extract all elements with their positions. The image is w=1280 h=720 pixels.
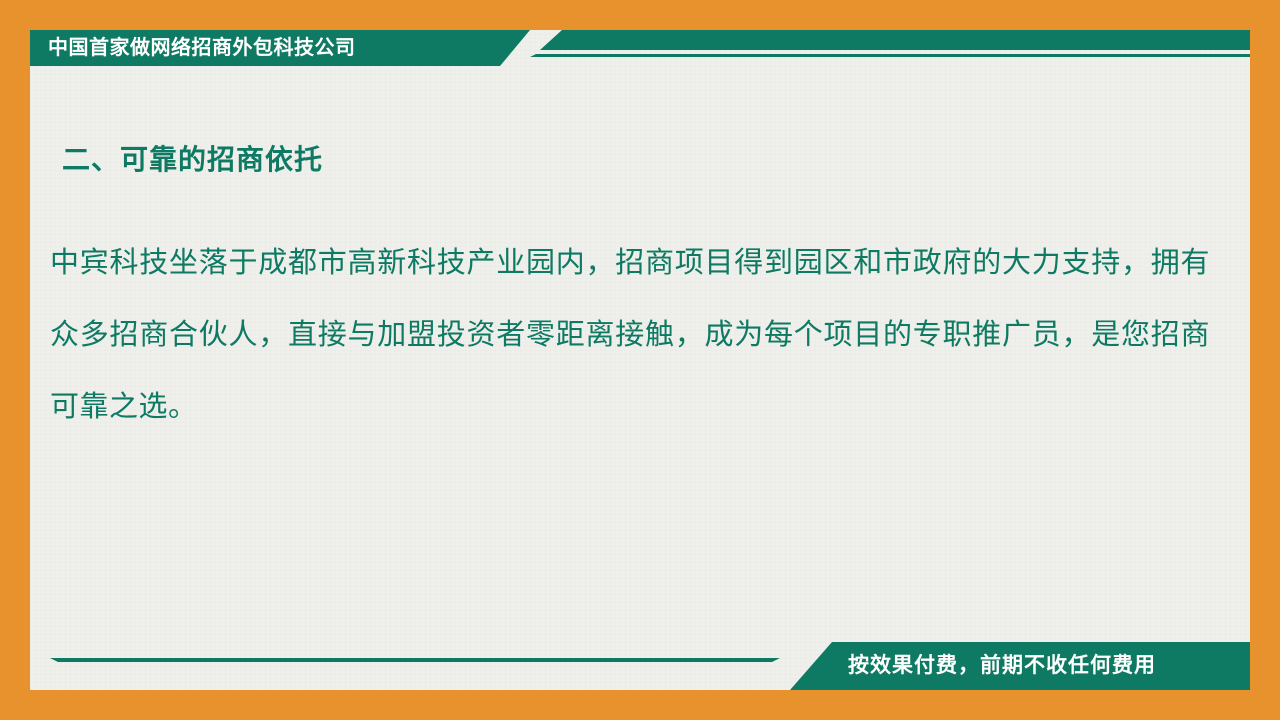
header-accent-line [530,54,1250,57]
slide-content-panel: 中国首家做网络招商外包科技公司 二、可靠的招商依托 中宾科技坐落于成都市高新科技… [30,30,1250,690]
footer-accent-line [50,658,780,662]
section-heading: 二、可靠的招商依托 [62,138,323,178]
presentation-slide: 中国首家做网络招商外包科技公司 二、可靠的招商依托 中宾科技坐落于成都市高新科技… [0,0,1280,720]
header-accent-bar [540,30,1250,50]
header-title: 中国首家做网络招商外包科技公司 [48,36,356,60]
body-paragraph: 中宾科技坐落于成都市高新科技产业园内，招商项目得到园区和市政府的大力支持，拥有众… [50,226,1210,442]
slide-header: 中国首家做网络招商外包科技公司 [30,30,1250,66]
footer-tagline: 按效果付费，前期不收任何费用 [848,652,1156,680]
